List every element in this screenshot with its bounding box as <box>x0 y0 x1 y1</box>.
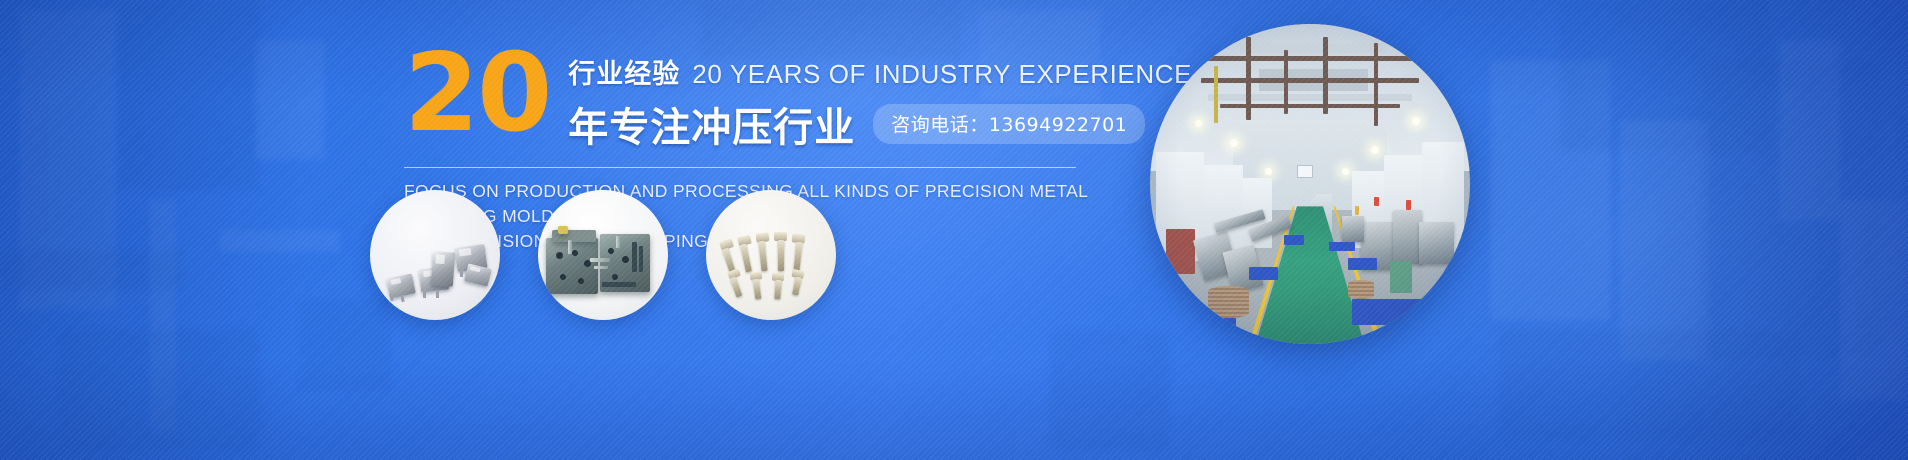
product-circle-mold[interactable] <box>538 190 668 320</box>
headline-text: 行业经验 20 YEARS OF INDUSTRY EXPERIENCE 年专注… <box>568 40 1192 153</box>
headline-line-1: 行业经验 20 YEARS OF INDUSTRY EXPERIENCE <box>568 52 1192 91</box>
product-circle-connectors[interactable] <box>370 190 500 320</box>
chinese-tagline: 行业经验 <box>568 52 680 91</box>
factory-photo-circle[interactable] <box>1150 24 1470 344</box>
years-number: 20 <box>404 44 550 143</box>
product-circle-pins[interactable] <box>706 190 836 320</box>
english-tagline: 20 YEARS OF INDUSTRY EXPERIENCE <box>692 59 1192 90</box>
chinese-headline: 年专注冲压行业 <box>568 95 855 153</box>
phone-badge[interactable]: 咨询电话：13694922701 <box>873 104 1145 144</box>
promotional-banner: 20 行业经验 20 YEARS OF INDUSTRY EXPERIENCE … <box>0 0 1908 460</box>
divider-line <box>404 167 1076 168</box>
headline-row: 20 行业经验 20 YEARS OF INDUSTRY EXPERIENCE … <box>404 40 1104 153</box>
headline-line-2: 年专注冲压行业 咨询电话：13694922701 <box>568 95 1192 153</box>
